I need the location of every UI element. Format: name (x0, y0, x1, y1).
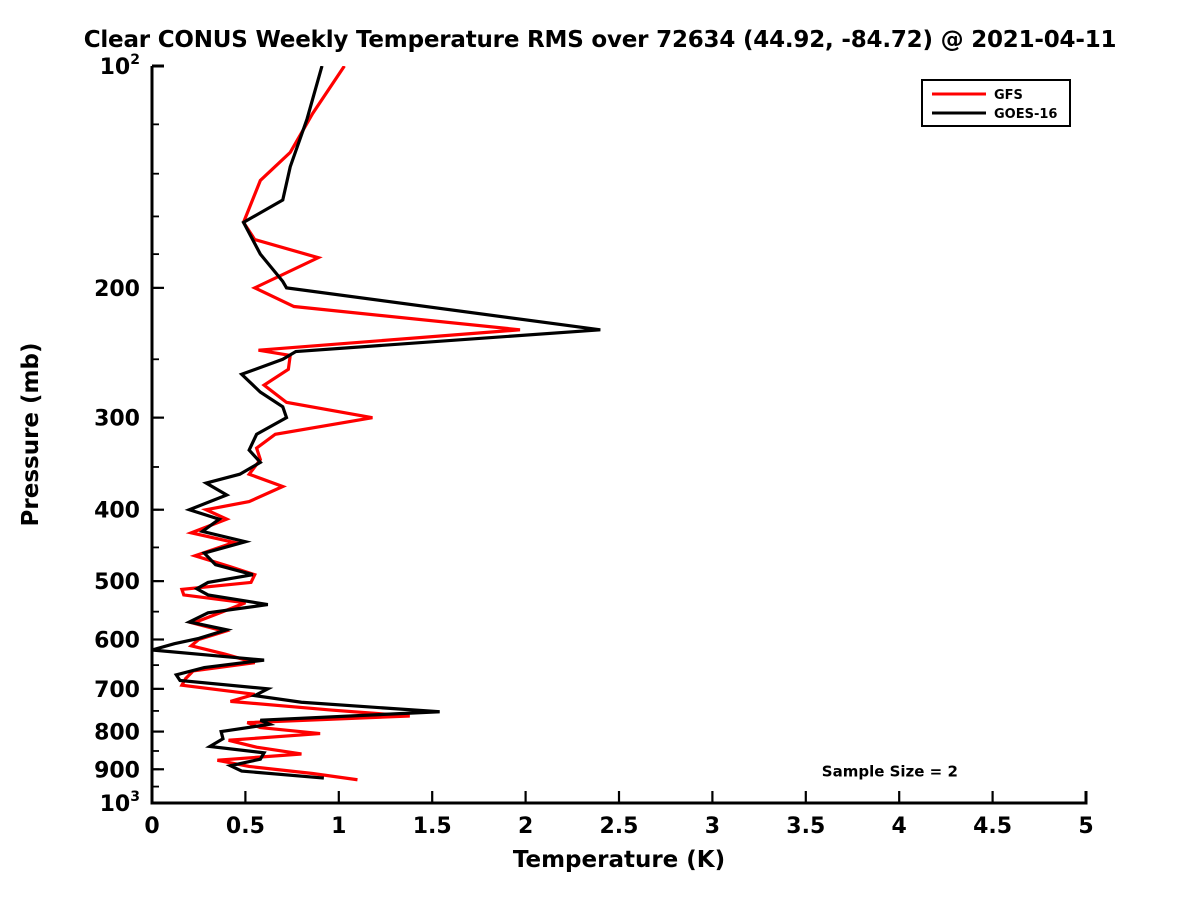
y-tick-label: 102 (100, 52, 140, 80)
y-tick-label: 103 (100, 789, 140, 817)
legend-label-gfs: GFS (994, 88, 1023, 103)
x-axis-title: Temperature (K) (513, 847, 725, 873)
legend-label-goes-16: GOES-16 (994, 107, 1057, 122)
y-tick-label: 700 (94, 678, 140, 703)
y-tick-label: 800 (94, 721, 140, 746)
axis-spine (152, 66, 1086, 803)
y-tick-label: 300 (94, 407, 140, 432)
plot-canvas: 00.511.522.533.544.551022003004005006007… (0, 0, 1200, 900)
x-tick-label: 1 (331, 814, 346, 839)
chart-figure: Clear CONUS Weekly Temperature RMS over … (0, 0, 1200, 900)
series-line-goes-16 (152, 66, 600, 778)
y-tick-label: 500 (94, 570, 140, 595)
x-tick-label: 2 (518, 814, 533, 839)
sample-size-annotation: Sample Size = 2 (822, 762, 958, 780)
series-line-gfs (182, 66, 520, 780)
x-tick-label: 0 (144, 814, 159, 839)
x-tick-label: 3.5 (786, 814, 825, 839)
y-tick-label: 900 (94, 758, 140, 783)
x-tick-label: 0.5 (226, 814, 265, 839)
series-group (152, 66, 600, 780)
x-tick-label: 4.5 (973, 814, 1012, 839)
y-tick-label: 400 (94, 499, 140, 524)
x-tick-label: 4 (892, 814, 907, 839)
y-tick-label: 200 (94, 277, 140, 302)
y-tick-label: 600 (94, 628, 140, 653)
y-axis-title: Pressure (mb) (18, 343, 44, 527)
x-tick-label: 3 (705, 814, 720, 839)
x-tick-label: 5 (1078, 814, 1093, 839)
annotations-group: Sample Size = 2 (822, 762, 958, 780)
x-tick-label: 2.5 (600, 814, 639, 839)
x-tick-label: 1.5 (413, 814, 452, 839)
chart-legend: GFSGOES-16 (922, 80, 1070, 126)
axes-group: 00.511.522.533.544.551022003004005006007… (18, 52, 1094, 873)
